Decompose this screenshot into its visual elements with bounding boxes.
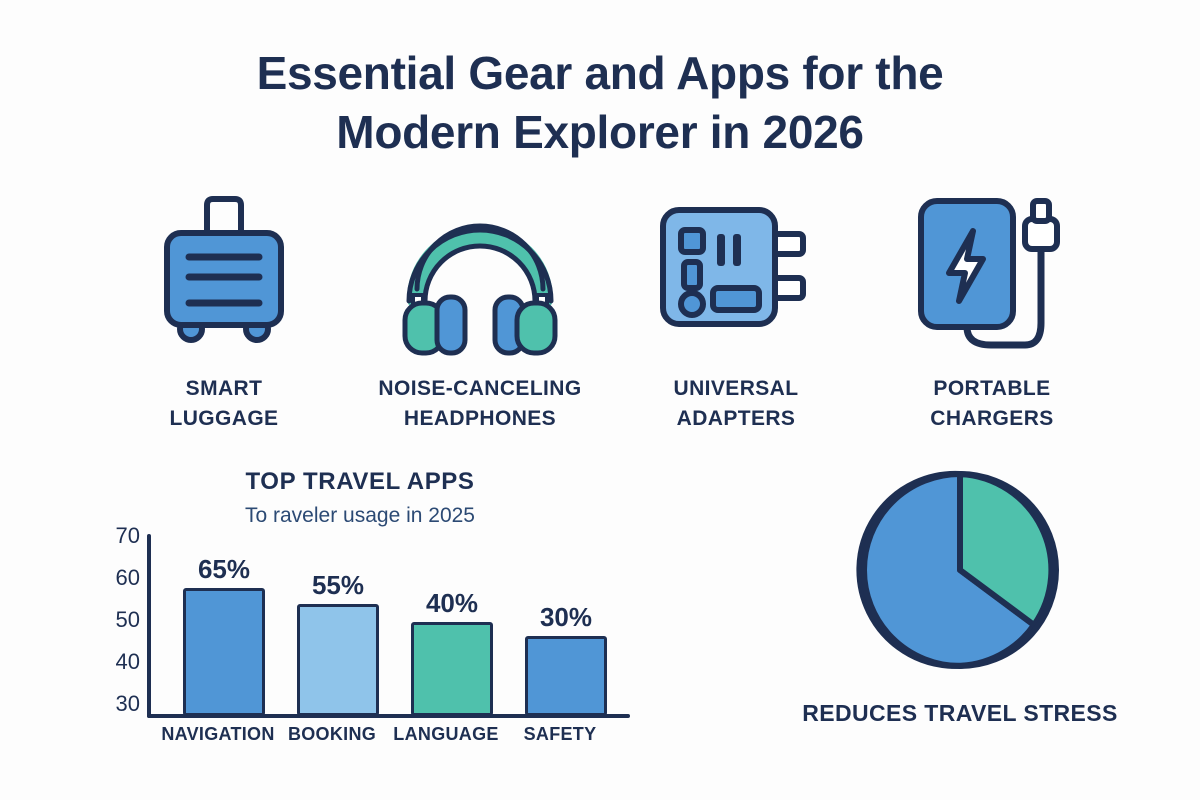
- pie-chart-art: [854, 464, 1066, 681]
- bar-rect[interactable]: [183, 588, 265, 716]
- gear-item-portable-chargers: PORTABLE CHARGERS: [864, 186, 1120, 434]
- bar-value-label: 65%: [164, 554, 284, 585]
- gear-item-smart-luggage: SMART LUGGAGE: [96, 186, 352, 434]
- y-axis-tick: 70: [116, 525, 140, 547]
- bar-rect[interactable]: [411, 622, 493, 716]
- gear-caption-smart-luggage: SMART LUGGAGE: [170, 374, 279, 434]
- y-axis-line: [147, 534, 151, 718]
- bar-series: 65% 55% 40% 30%: [155, 534, 625, 716]
- gear-caption-universal-adapters: UNIVERSAL ADAPTERS: [674, 374, 799, 434]
- gear-caption-line-2: LUGGAGE: [170, 404, 279, 434]
- gear-caption-headphones: NOISE-CANCELING HEADPHONES: [378, 374, 581, 434]
- bar-rect[interactable]: [297, 604, 379, 716]
- y-axis-ticks: 70 60 50 40 30: [100, 532, 140, 702]
- pie-chart: REDUCES TRAVEL STRESS: [760, 452, 1160, 752]
- gear-item-headphones: NOISE-CANCELING HEADPHONES: [352, 186, 608, 434]
- power-bank-icon: [907, 186, 1077, 358]
- gear-item-universal-adapters: UNIVERSAL ADAPTERS: [608, 186, 864, 434]
- bar-value-label: 30%: [506, 602, 626, 633]
- y-axis-tick: 60: [116, 567, 140, 589]
- gear-caption-line-2: ADAPTERS: [674, 404, 799, 434]
- bar-value-label: 40%: [392, 588, 512, 619]
- gear-caption-line-1: NOISE-CANCELING: [378, 374, 581, 404]
- bar-chart: TOP TRAVEL APPS To raveler usage in 2025…: [100, 462, 660, 762]
- gear-caption-line-2: HEADPHONES: [378, 404, 581, 434]
- bar-chart-title: TOP TRAVEL APPS: [100, 468, 620, 496]
- bar-chart-subtitle: To raveler usage in 2025: [100, 504, 620, 528]
- bar-value-label: 55%: [278, 570, 398, 601]
- bar-item-safety[interactable]: 30%: [525, 636, 607, 716]
- bar-rect[interactable]: [525, 636, 607, 716]
- bar-item-booking[interactable]: 55%: [297, 604, 379, 716]
- headphones-icon: [395, 186, 565, 358]
- y-axis-tick: 50: [116, 609, 140, 631]
- bar-item-language[interactable]: 40%: [411, 622, 493, 716]
- y-axis-tick: 30: [116, 693, 140, 715]
- infographic-canvas: Essential Gear and Apps for the Modern E…: [0, 0, 1200, 800]
- gear-caption-line-2: CHARGERS: [930, 404, 1053, 434]
- gear-icon-row: SMART LUGGAGE: [96, 186, 1120, 434]
- gear-caption-line-1: UNIVERSAL: [674, 374, 799, 404]
- gear-caption-line-1: SMART: [170, 374, 279, 404]
- bar-item-navigation[interactable]: 65%: [183, 588, 265, 716]
- gear-caption-portable-chargers: PORTABLE CHARGERS: [930, 374, 1053, 434]
- page-title-line-1: Essential Gear and Apps for the: [0, 44, 1200, 103]
- gear-caption-line-1: PORTABLE: [930, 374, 1053, 404]
- page-title-line-2: Modern Explorer in 2026: [0, 103, 1200, 162]
- suitcase-icon: [149, 186, 299, 358]
- x-axis-labels: NAVIGATION BOOKING LANGUAGE SAFETY: [147, 724, 637, 754]
- pie-chart-caption: REDUCES TRAVEL STRESS: [760, 700, 1160, 727]
- power-adapter-icon: [651, 186, 821, 358]
- y-axis-tick: 40: [116, 651, 140, 673]
- x-axis-label-safety: SAFETY: [490, 724, 630, 745]
- bar-chart-plot: 70 60 50 40 30 65% 55% 40%: [100, 526, 660, 762]
- page-title: Essential Gear and Apps for the Modern E…: [0, 44, 1200, 162]
